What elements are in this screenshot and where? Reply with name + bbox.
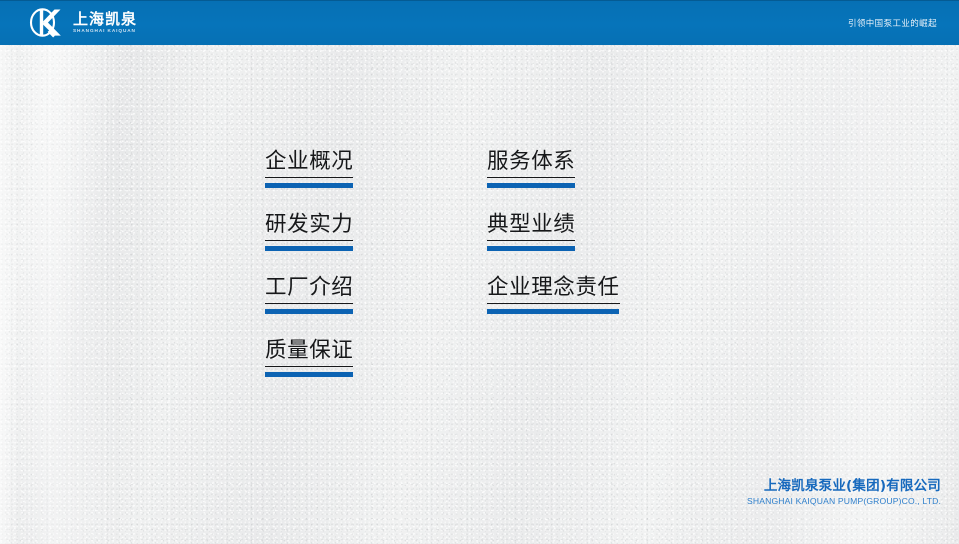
- footer-company-en: SHANGHAI KAIQUAN PUMP(GROUP)CO., LTD.: [747, 497, 941, 506]
- agenda-item[interactable]: 质量保证: [265, 337, 632, 379]
- agenda-item-inner: 企业概况: [265, 148, 353, 190]
- agenda-item-inner: 典型业绩: [487, 211, 575, 253]
- brand-logo[interactable]: 上海凯泉 SHANGHAI KAIQUAN: [27, 7, 137, 38]
- agenda-item-accent-bar: [487, 246, 575, 251]
- agenda-item-label: 典型业绩: [487, 211, 575, 241]
- brand-name-en: SHANGHAI KAIQUAN: [73, 29, 138, 34]
- agenda-item-accent-bar: [487, 309, 619, 314]
- agenda-item-label: 服务体系: [487, 148, 575, 178]
- agenda-item-accent-bar: [265, 372, 353, 377]
- agenda-item-label: 质量保证: [265, 337, 353, 367]
- header-bar: 上海凯泉 SHANGHAI KAIQUAN 引领中国泵工业的崛起: [0, 0, 959, 45]
- agenda-item-label: 企业概况: [265, 148, 353, 178]
- agenda-item-label: 研发实力: [265, 211, 353, 241]
- agenda-item-inner: 企业理念责任: [487, 274, 620, 316]
- agenda-item-inner: 服务体系: [487, 148, 575, 190]
- agenda-column-right: 服务体系 典型业绩 企业理念责任: [487, 148, 785, 337]
- agenda-item-inner: 工厂介绍: [265, 274, 353, 316]
- agenda-item[interactable]: 企业理念责任: [487, 274, 785, 316]
- agenda-item-inner: 研发实力: [265, 211, 353, 253]
- kaiquan-k-monogram-logo-icon: [27, 7, 67, 38]
- agenda-item-accent-bar: [487, 183, 575, 188]
- agenda-item-label: 企业理念责任: [487, 274, 620, 304]
- agenda-item-inner: 质量保证: [265, 337, 353, 379]
- agenda-item-accent-bar: [265, 309, 353, 314]
- slide-canvas: 上海凯泉 SHANGHAI KAIQUAN 引领中国泵工业的崛起 企业概况 研发…: [0, 0, 959, 544]
- agenda-item-label: 工厂介绍: [265, 274, 353, 304]
- brand-logo-wordmark: 上海凯泉 SHANGHAI KAIQUAN: [73, 12, 137, 34]
- header-slogan: 引领中国泵工业的崛起: [848, 0, 937, 45]
- brand-name-cn: 上海凯泉: [73, 12, 137, 27]
- footer-company-cn: 上海凯泉泵业(集团)有限公司: [747, 480, 941, 494]
- agenda-item[interactable]: 典型业绩: [487, 211, 785, 253]
- agenda-item[interactable]: 服务体系: [487, 148, 785, 190]
- agenda-item-accent-bar: [265, 246, 353, 251]
- footer-brand: 上海凯泉泵业(集团)有限公司 SHANGHAI KAIQUAN PUMP(GRO…: [747, 480, 941, 506]
- agenda-item-accent-bar: [265, 183, 353, 188]
